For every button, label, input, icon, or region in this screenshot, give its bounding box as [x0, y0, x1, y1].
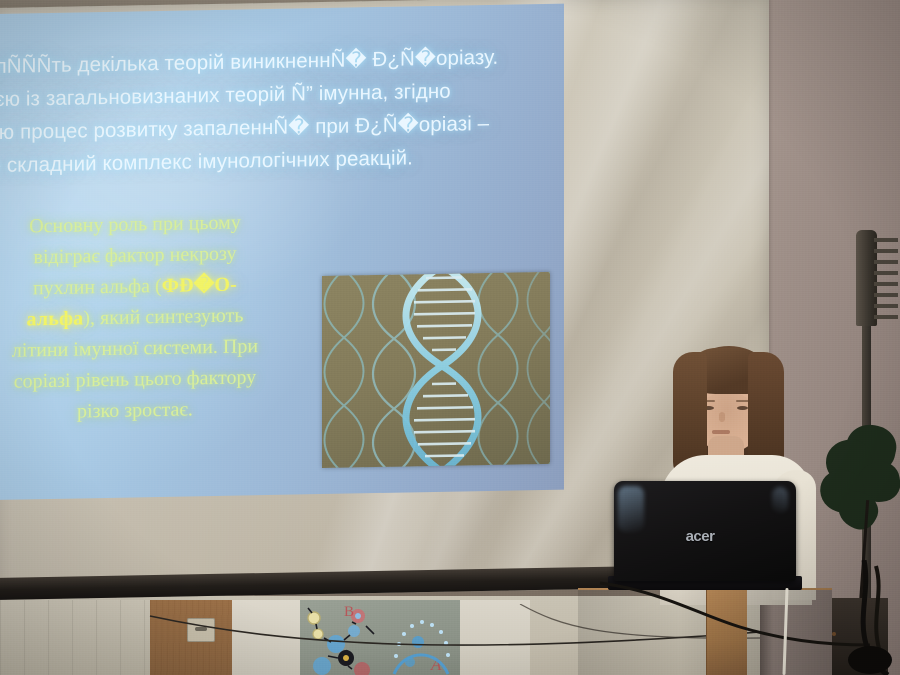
slide-highlight-fno: ФÐ�О- [162, 274, 237, 297]
poster-margin-left [232, 600, 302, 675]
slide-paragraph-body: Основну роль при цьому відіграє фактор н… [0, 206, 300, 429]
poster-margin-right [458, 600, 530, 675]
svg-text:B: B [344, 604, 354, 620]
floor-lamp-fins [874, 238, 898, 320]
acer-logo: acer [670, 528, 730, 545]
laptop-lid-highlight [772, 487, 788, 513]
dna-helix-graphic [322, 272, 550, 468]
poster-graphic: B A [300, 600, 460, 675]
wall-panel-left [0, 600, 150, 675]
plant-pot [832, 598, 888, 675]
slide-body-line-7: різко зростає. [0, 392, 300, 429]
presenter-eye-right [737, 406, 748, 410]
laptop-lid-highlight [618, 486, 644, 532]
presenter-nose [719, 412, 725, 422]
podium-side-panel [706, 588, 747, 675]
wooden-podium [578, 588, 832, 675]
biology-wall-poster: B A [300, 600, 460, 675]
podium-screw [832, 632, 836, 636]
projected-slide: ділÑÑÑть декілька теорій виникненнÑ� Ð¿Ñ… [0, 4, 564, 500]
slide-paragraph-top: ділÑÑÑть декілька теорій виникненнÑ� Ð¿Ñ… [0, 40, 518, 182]
slide-body-line-3-text: пухлин альфа ( [33, 275, 162, 299]
presenter-mouth [712, 430, 730, 434]
wall-power-socket [187, 618, 215, 642]
dna-helix-image [322, 272, 550, 468]
slide-body-line-6: соріазі рівень цього фактору [0, 361, 300, 398]
photo-scene: B A ділÑÑÑть декілька теорій [0, 0, 900, 675]
slide-body-line-4-text: ), який синтезують [83, 304, 243, 329]
slide-highlight-alfa: альфа [27, 307, 84, 330]
